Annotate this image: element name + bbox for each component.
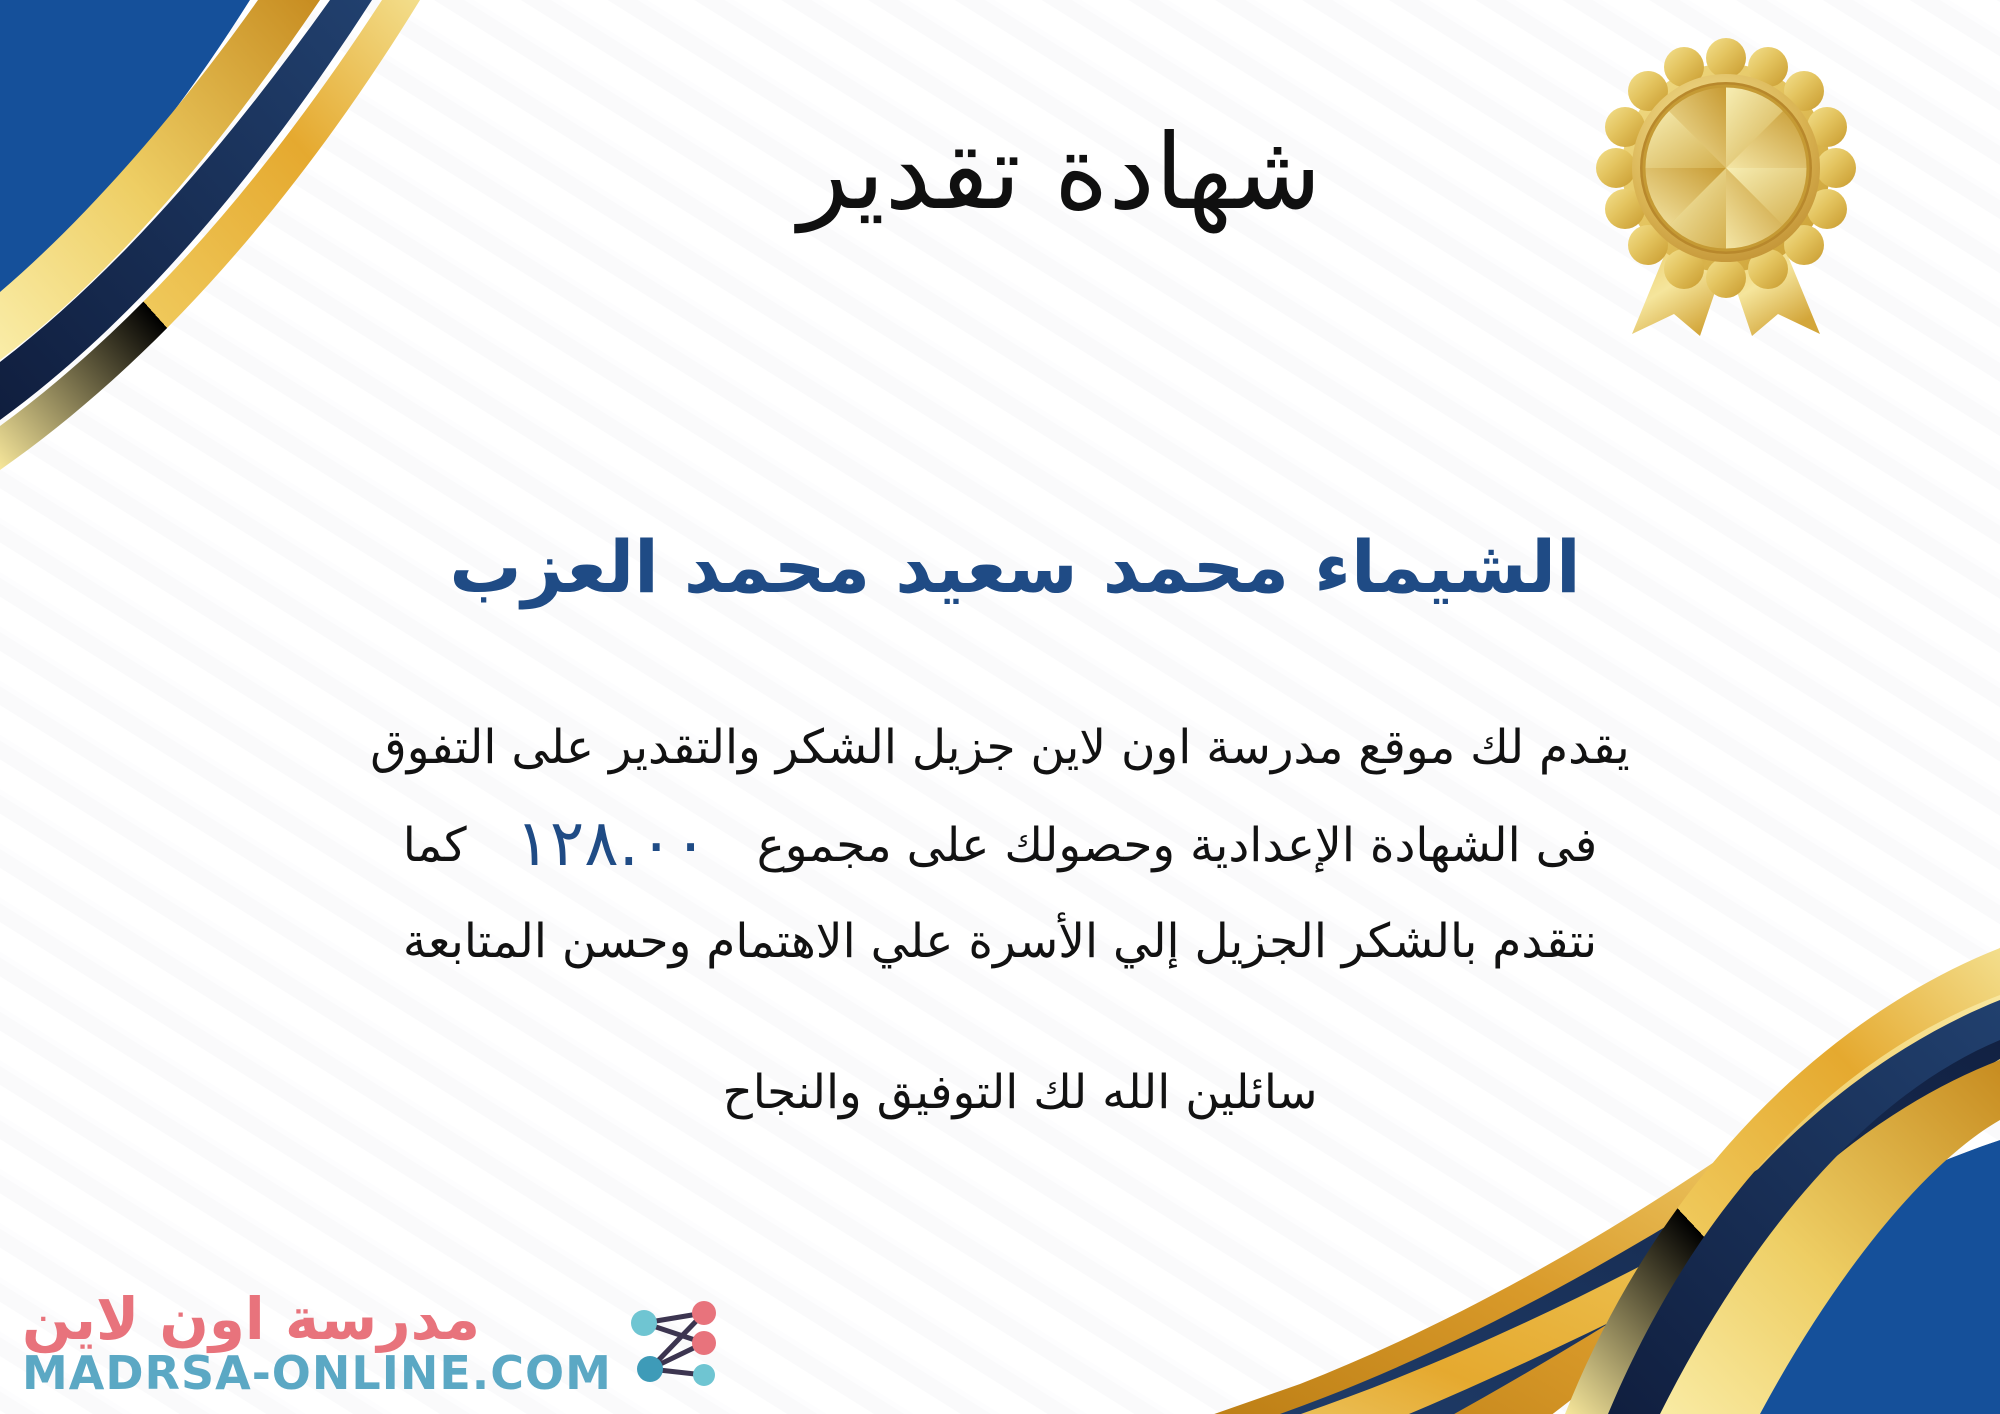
total-score-value: ١٢٨.٠٠ xyxy=(482,807,742,881)
site-logo[interactable]: مدرسة اون لاين MADRSA-ONLINE.COM xyxy=(22,1290,726,1396)
body-line-2-suffix: كما xyxy=(403,818,467,873)
logo-domain-name: MADRSA-ONLINE.COM xyxy=(22,1350,612,1396)
certificate-canvas: شهادة تقدير الشيماء محمد سعيد محمد العزب… xyxy=(0,0,2000,1414)
logo-arabic-name: مدرسة اون لاين xyxy=(22,1290,480,1348)
body-line-2: فى الشهادة الإعدادية وحصولك على مجموع ١٢… xyxy=(60,796,1940,894)
body-line-2-prefix: فى الشهادة الإعدادية وحصولك على مجموع xyxy=(757,818,1598,873)
page-title: شهادة تقدير xyxy=(0,118,2000,227)
recipient-name: الشيماء محمد سعيد محمد العزب xyxy=(0,525,2000,609)
body-line-3: نتقدم بالشكر الجزيل إلي الأسرة علي الاهت… xyxy=(60,894,1940,990)
network-nodes-icon xyxy=(622,1291,726,1395)
body-line-1: يقدم لك موقع مدرسة اون لاين جزيل الشكر و… xyxy=(60,700,1940,796)
closing-wish: سائلين الله لك التوفيق والنجاح xyxy=(0,1065,2000,1120)
certificate-body: يقدم لك موقع مدرسة اون لاين جزيل الشكر و… xyxy=(60,700,1940,990)
